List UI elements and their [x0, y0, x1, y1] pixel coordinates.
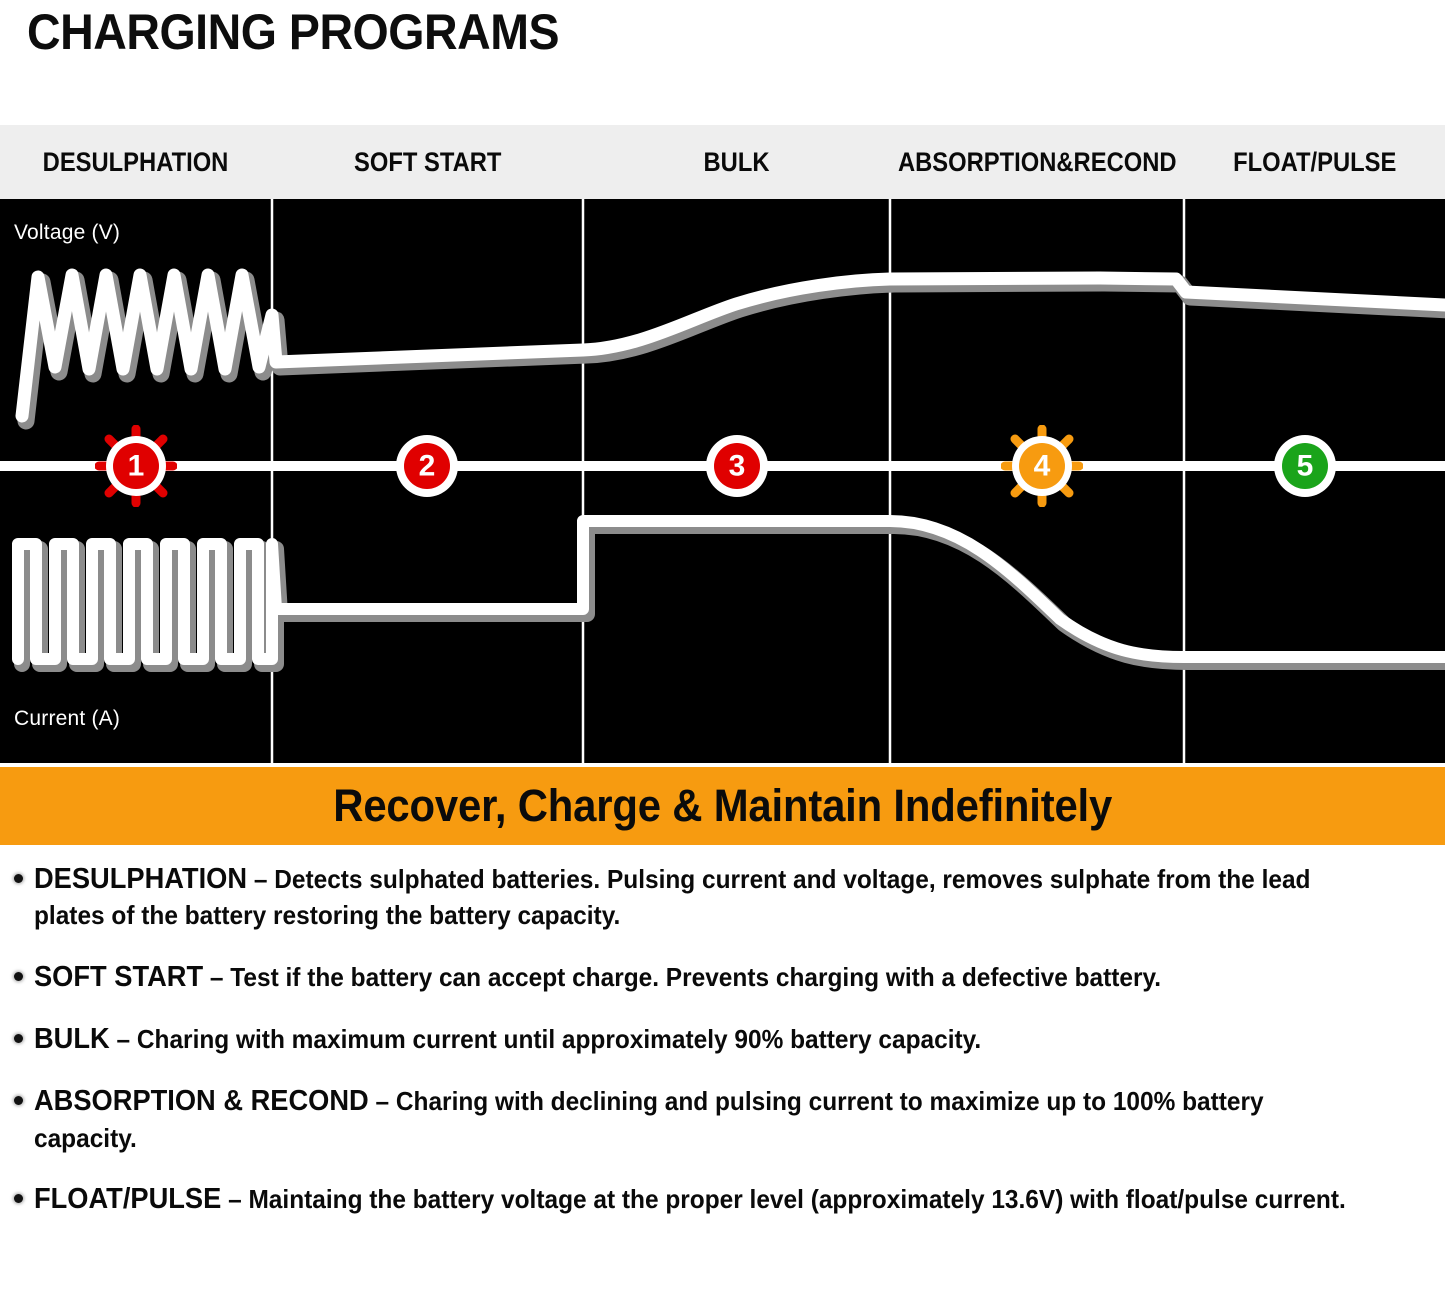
stage-marker-5[interactable]: 5 [1264, 425, 1346, 507]
stage-description-list: DESULPHATION – Detects sulphated batteri… [0, 860, 1445, 1243]
stage-label-absorption-recond: ABSORPTION&RECOND [898, 147, 1177, 178]
bullet-text-soft-start: SOFT START – Test if the battery can acc… [34, 958, 1351, 996]
stage-cell-soft-start: SOFT START [272, 125, 583, 199]
list-item: SOFT START – Test if the battery can acc… [0, 958, 1445, 996]
stage-cell-float-pulse: FLOAT/PULSE [1184, 125, 1445, 199]
bullet-term-soft-start: SOFT START [34, 961, 203, 993]
bullet-text-desulphation: DESULPHATION – Detects sulphated batteri… [34, 860, 1351, 934]
bullet-text-float-pulse: FLOAT/PULSE – Maintaing the battery volt… [34, 1180, 1351, 1218]
stage-label-desulphation: DESULPHATION [43, 147, 229, 178]
marker-number-1: 1 [128, 450, 145, 483]
axis-label-voltage: Voltage (V) [14, 221, 120, 245]
current-trace [18, 521, 1445, 664]
list-item: ABSORPTION & RECOND – Charing with decli… [0, 1082, 1445, 1156]
bullet-dot-icon [14, 972, 23, 981]
stage-label-bulk: BULK [704, 147, 770, 178]
bullet-dot-icon [14, 1034, 23, 1043]
marker-number-2: 2 [419, 450, 436, 483]
bullet-term-float-pulse: FLOAT/PULSE [34, 1183, 221, 1215]
stage-header-bar: DESULPHATION SOFT START BULK ABSORPTION&… [0, 125, 1445, 199]
bullet-dot-icon [14, 874, 23, 883]
marker-number-4: 4 [1034, 450, 1051, 483]
stage-label-soft-start: SOFT START [354, 147, 501, 178]
bullet-term-desulphation: DESULPHATION [34, 863, 247, 895]
bullet-desc-soft-start: – Test if the battery can accept charge.… [203, 962, 1161, 992]
charging-stage-chart: Voltage (V) Current (A) 1 2 [0, 199, 1445, 763]
stage-cell-absorption-recond: ABSORPTION&RECOND [890, 125, 1184, 199]
marker-number-3: 3 [729, 450, 746, 483]
axis-label-current: Current (A) [14, 707, 120, 731]
voltage-trace-line [22, 275, 1445, 416]
list-item: BULK – Charing with maximum current unti… [0, 1020, 1445, 1058]
bullet-desc-bulk: – Charing with maximum current until app… [110, 1024, 981, 1054]
voltage-trace [22, 275, 1445, 421]
stage-label-float-pulse: FLOAT/PULSE [1233, 147, 1396, 178]
tagline-text: Recover, Charge & Maintain Indefinitely [333, 780, 1112, 832]
stage-marker-2[interactable]: 2 [386, 425, 468, 507]
bullet-text-bulk: BULK – Charing with maximum current unti… [34, 1020, 1351, 1058]
tagline-banner: Recover, Charge & Maintain Indefinitely [0, 767, 1445, 845]
bullet-term-absorption-recond: ABSORPTION & RECOND [34, 1085, 369, 1117]
bullet-term-bulk: BULK [34, 1023, 110, 1055]
marker-number-5: 5 [1297, 450, 1314, 483]
stage-cell-bulk: BULK [583, 125, 890, 199]
bullet-dot-icon [14, 1096, 23, 1105]
list-item: DESULPHATION – Detects sulphated batteri… [0, 860, 1445, 934]
stage-cell-desulphation: DESULPHATION [0, 125, 272, 199]
page-title: CHARGING PROGRAMS [27, 6, 559, 59]
bullet-desc-float-pulse: – Maintaing the battery voltage at the p… [221, 1184, 1346, 1214]
stage-marker-4[interactable]: 4 [1001, 425, 1083, 507]
bullet-dot-icon [14, 1194, 23, 1203]
stage-marker-3[interactable]: 3 [696, 425, 778, 507]
bullet-text-absorption-recond: ABSORPTION & RECOND – Charing with decli… [34, 1082, 1351, 1156]
stage-marker-1[interactable]: 1 [95, 425, 177, 507]
list-item: FLOAT/PULSE – Maintaing the battery volt… [0, 1180, 1445, 1218]
